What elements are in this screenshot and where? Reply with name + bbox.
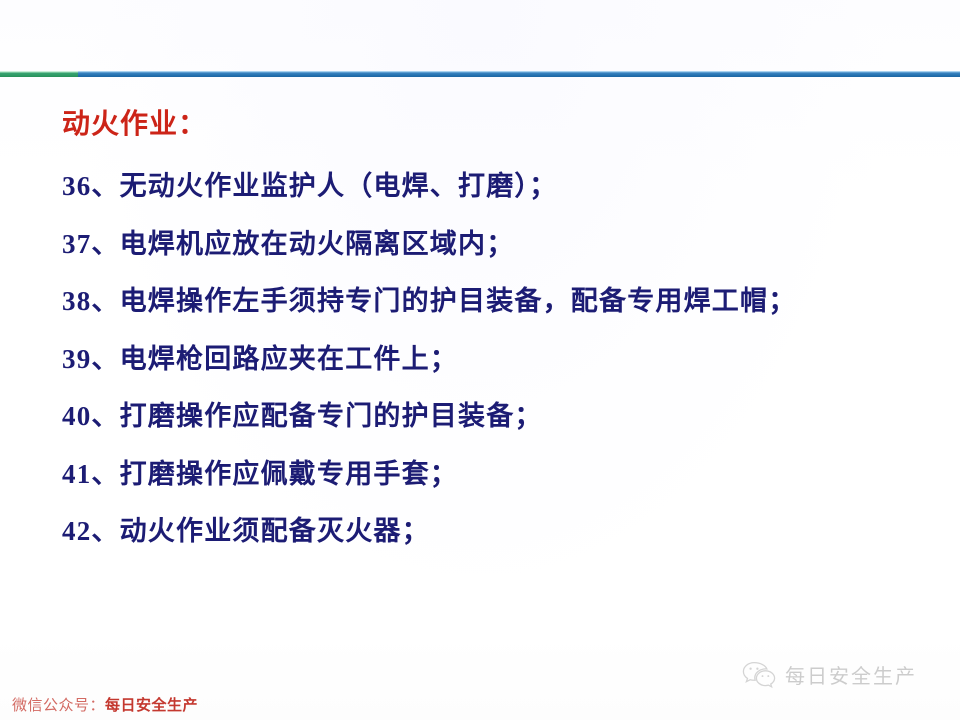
list-item: 42、动火作业须配备灭火器；: [62, 503, 952, 561]
watermark-text: 每日安全生产: [785, 660, 917, 689]
footer: 微信公众号： 每日安全生产: [12, 694, 198, 715]
footer-account-name: 每日安全生产: [105, 694, 198, 715]
list-item: 39、电焊枪回路应夹在工件上；: [62, 331, 952, 389]
wechat-icon: [742, 661, 776, 689]
footer-label: 微信公众号：: [12, 694, 105, 715]
list-item: 40、打磨操作应配备专门的护目装备；: [62, 388, 952, 446]
list-item: 38、电焊操作左手须持专门的护目装备，配备专用焊工帽；: [62, 273, 952, 331]
list-item: 37、电焊机应放在动火隔离区域内；: [62, 216, 952, 274]
list-item: 36、无动火作业监护人（电焊、打磨）；: [62, 158, 952, 216]
section-title: 动火作业：: [62, 102, 207, 142]
list-item: 41、打磨操作应佩戴专用手套；: [62, 446, 952, 504]
slide-content: 动火作业： 36、无动火作业监护人（电焊、打磨）； 37、电焊机应放在动火隔离区…: [0, 0, 960, 720]
rule-item-list: 36、无动火作业监护人（电焊、打磨）； 37、电焊机应放在动火隔离区域内； 38…: [62, 158, 952, 561]
slide-canvas: 动火作业： 36、无动火作业监护人（电焊、打磨）； 37、电焊机应放在动火隔离区…: [0, 0, 960, 720]
watermark: 每日安全生产: [742, 660, 917, 689]
